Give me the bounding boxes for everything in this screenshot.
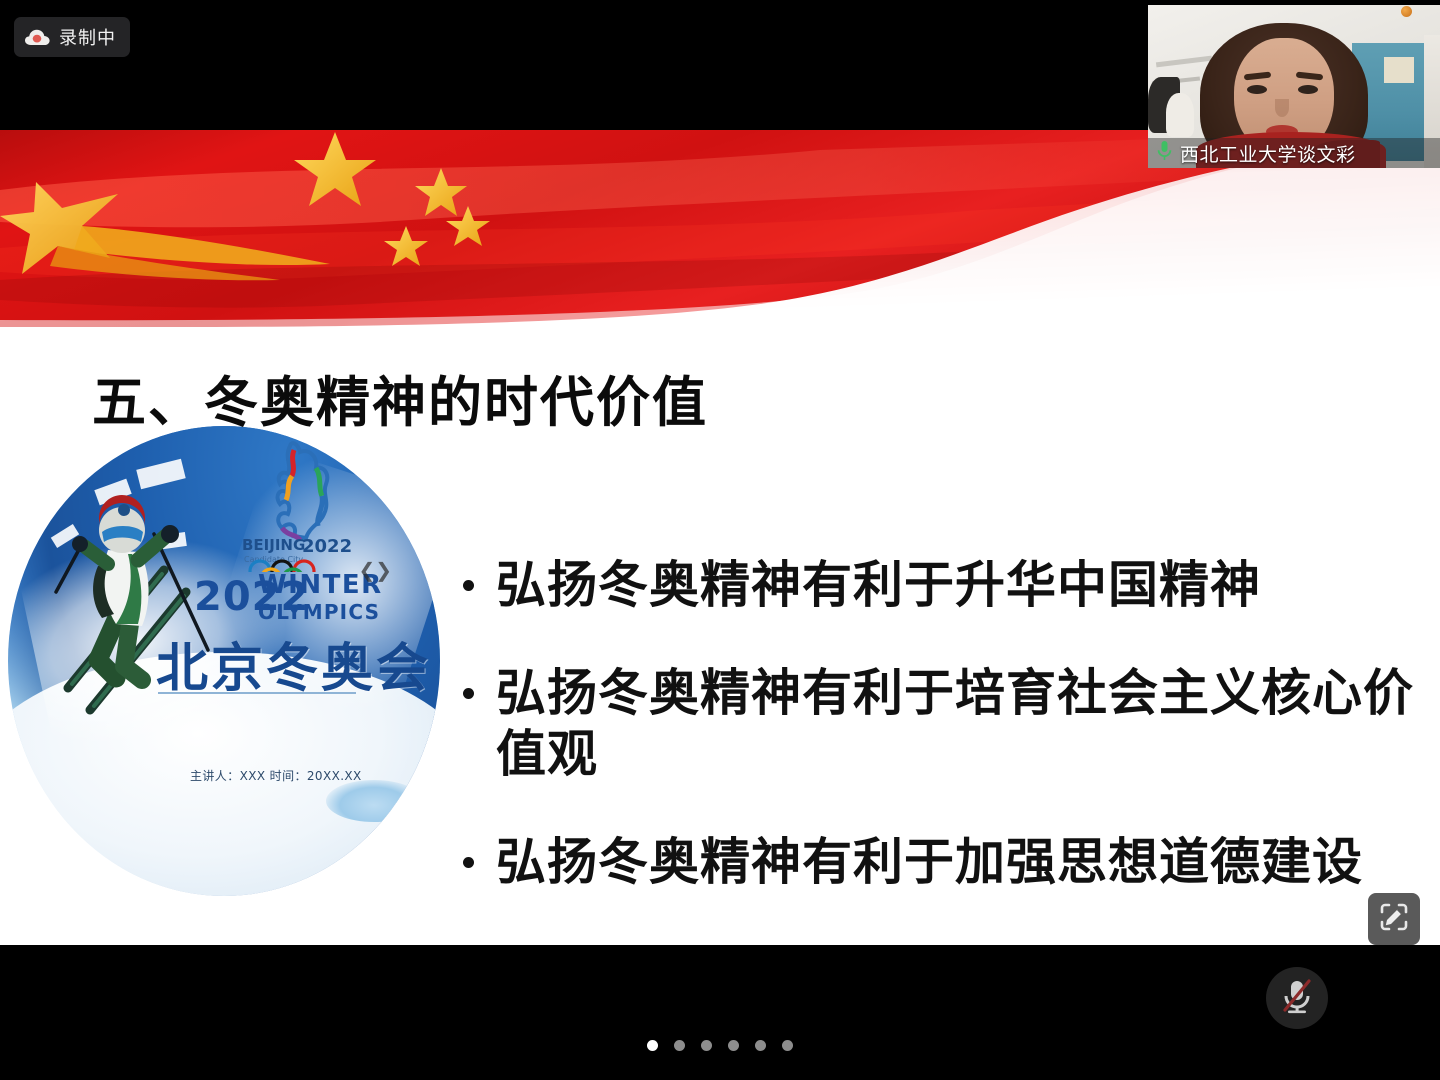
bullet-dot-icon (463, 857, 474, 868)
participant-video-tile[interactable]: 西北工业大学谈文彩 (1148, 5, 1440, 168)
bottom-control-bar (0, 945, 1440, 1080)
participant-name-bar: 西北工业大学谈文彩 (1148, 138, 1440, 168)
page-dot[interactable] (755, 1040, 766, 1051)
page-dot[interactable] (674, 1040, 685, 1051)
page-dot[interactable] (701, 1040, 712, 1051)
participant-name: 西北工业大学谈文彩 (1180, 140, 1356, 167)
microphone-muted-icon (1280, 977, 1314, 1020)
annotate-button[interactable] (1368, 893, 1420, 945)
slide-poster-image: BEIJING 2022 Candidate City 2022 WINTER … (8, 426, 440, 896)
svg-text:BEIJING: BEIJING (242, 536, 305, 554)
beijing-2022-emblem-icon: BEIJING 2022 Candidate City (232, 440, 360, 577)
page-dot[interactable] (782, 1040, 793, 1051)
bullet-dot-icon (463, 580, 474, 591)
bullet-text: 弘扬冬奥精神有利于培育社会主义核心价值观 (496, 663, 1430, 786)
bullet-dot-icon (463, 688, 474, 699)
recording-label: 录制中 (59, 24, 116, 50)
video-status-dot-icon (1401, 6, 1412, 17)
page-dot[interactable] (647, 1040, 658, 1051)
page-dot[interactable] (728, 1040, 739, 1051)
poster-divider (158, 692, 356, 694)
list-item: 弘扬冬奥精神有利于培育社会主义核心价值观 (455, 663, 1430, 786)
recording-cloud-icon (25, 29, 50, 46)
bird-icon: ❮❯ (358, 558, 392, 583)
presentation-slide[interactable]: 五、冬奥精神的时代价值 (0, 130, 1440, 945)
mic-mute-toggle-button[interactable] (1266, 967, 1328, 1029)
list-item: 弘扬冬奥精神有利于升华中国精神 (455, 555, 1430, 617)
recording-indicator: 录制中 (14, 17, 130, 57)
poster-chinese-title: 北京冬奥会 (156, 626, 431, 701)
page-indicator-dots[interactable] (0, 1040, 1440, 1051)
svg-text:2022: 2022 (302, 536, 352, 557)
bullet-text: 弘扬冬奥精神有利于升华中国精神 (496, 555, 1430, 617)
poster-byline: 主讲人：XXX 时间：20XX.XX (190, 767, 362, 784)
slide-title: 五、冬奥精神的时代价值 (92, 358, 708, 437)
annotate-pencil-icon (1378, 901, 1410, 938)
list-item: 弘扬冬奥精神有利于加强思想道德建设 (455, 832, 1430, 894)
slide-bullet-list: 弘扬冬奥精神有利于升华中国精神 弘扬冬奥精神有利于培育社会主义核心价值观 弘扬冬… (455, 555, 1430, 939)
microphone-icon (1156, 140, 1173, 167)
bullet-text: 弘扬冬奥精神有利于加强思想道德建设 (496, 832, 1430, 894)
